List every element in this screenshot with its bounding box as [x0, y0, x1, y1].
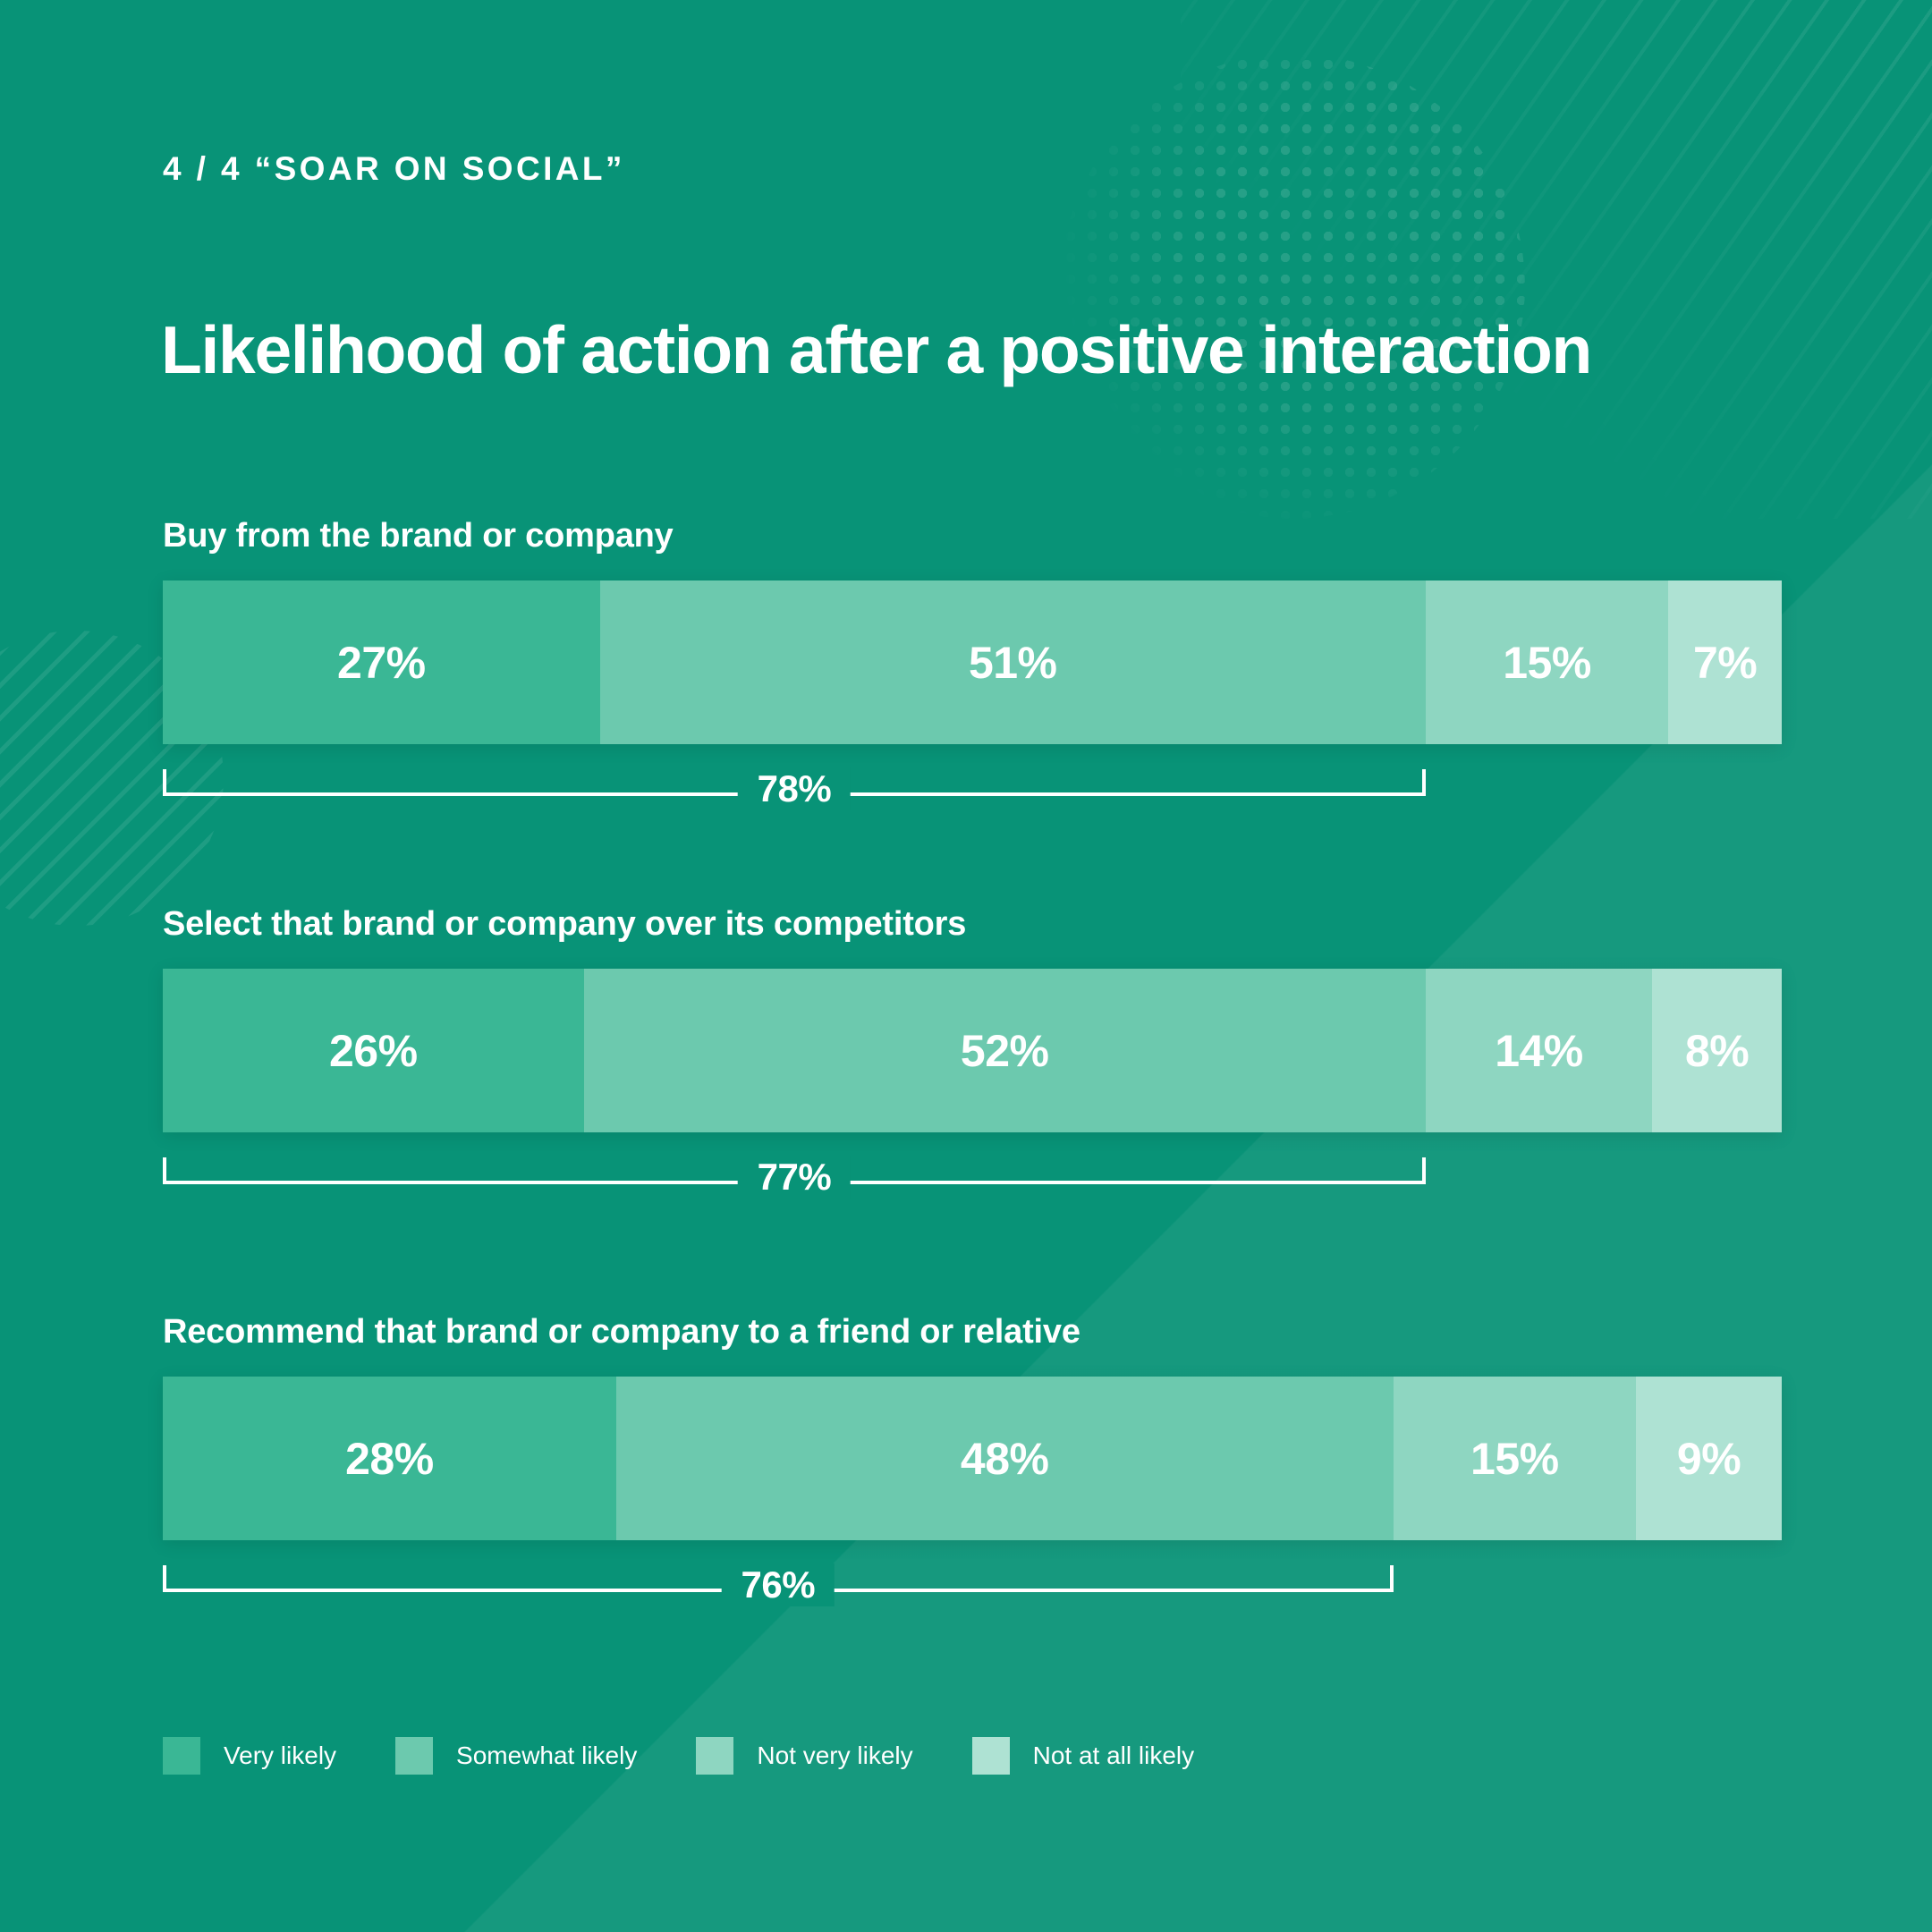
bracket-total-value: 76%	[722, 1563, 835, 1606]
chart-legend: Very likely Somewhat likely Not very lik…	[163, 1737, 1253, 1775]
bar-segment-very-likely: 27%	[163, 580, 600, 744]
stacked-bar: 26% 52% 14% 8%	[163, 969, 1782, 1132]
stacked-bar: 28% 48% 15% 9%	[163, 1377, 1782, 1540]
bar-group-recommend: Recommend that brand or company to a fri…	[163, 1313, 1782, 1623]
legend-swatch-not-at-all-likely	[972, 1737, 1010, 1775]
bracket-total-value: 78%	[738, 767, 852, 810]
total-bracket: 76%	[163, 1553, 1782, 1623]
bracket-tick-left	[163, 1157, 166, 1184]
bar-group-label: Recommend that brand or company to a fri…	[163, 1313, 1782, 1352]
bracket-total-value: 77%	[738, 1156, 852, 1199]
bracket-tick-right	[1422, 1157, 1426, 1184]
halftone-dots-decoration	[1060, 54, 1525, 519]
diagonal-stripes-decoration-top-right	[1181, 0, 1932, 519]
legend-swatch-very-likely	[163, 1737, 200, 1775]
legend-swatch-not-very-likely	[696, 1737, 733, 1775]
legend-label: Not very likely	[757, 1741, 912, 1770]
bar-segment-not-at-all-likely: 7%	[1668, 580, 1782, 744]
legend-item-not-very-likely: Not very likely	[696, 1737, 912, 1775]
legend-label: Somewhat likely	[456, 1741, 637, 1770]
bar-group-buy: Buy from the brand or company 27% 51% 15…	[163, 517, 1782, 826]
total-bracket: 77%	[163, 1145, 1782, 1215]
bar-segment-somewhat-likely: 52%	[584, 969, 1426, 1132]
eyebrow-label: 4 / 4 “SOAR ON SOCIAL”	[163, 150, 625, 188]
bar-group-label: Buy from the brand or company	[163, 517, 1782, 555]
page-title: Likelihood of action after a positive in…	[161, 311, 1591, 388]
legend-item-somewhat-likely: Somewhat likely	[395, 1737, 637, 1775]
bar-segment-somewhat-likely: 48%	[616, 1377, 1394, 1540]
bar-segment-not-very-likely: 15%	[1426, 580, 1669, 744]
stacked-bar: 27% 51% 15% 7%	[163, 580, 1782, 744]
legend-item-very-likely: Very likely	[163, 1737, 336, 1775]
bar-group-select: Select that brand or company over its co…	[163, 905, 1782, 1215]
bar-segment-very-likely: 26%	[163, 969, 584, 1132]
legend-label: Very likely	[224, 1741, 336, 1770]
bar-segment-very-likely: 28%	[163, 1377, 616, 1540]
bracket-tick-right	[1422, 769, 1426, 796]
legend-item-not-at-all-likely: Not at all likely	[972, 1737, 1195, 1775]
total-bracket: 78%	[163, 757, 1782, 826]
bracket-tick-left	[163, 1565, 166, 1592]
bar-segment-somewhat-likely: 51%	[600, 580, 1426, 744]
bar-segment-not-very-likely: 15%	[1394, 1377, 1637, 1540]
bracket-tick-left	[163, 769, 166, 796]
bar-group-label: Select that brand or company over its co…	[163, 905, 1782, 944]
legend-label: Not at all likely	[1033, 1741, 1195, 1770]
bar-segment-not-very-likely: 14%	[1426, 969, 1652, 1132]
bracket-tick-right	[1390, 1565, 1394, 1592]
legend-swatch-somewhat-likely	[395, 1737, 433, 1775]
infographic-canvas: 4 / 4 “SOAR ON SOCIAL” Likelihood of act…	[0, 0, 1932, 1932]
bar-segment-not-at-all-likely: 9%	[1636, 1377, 1782, 1540]
bar-segment-not-at-all-likely: 8%	[1652, 969, 1782, 1132]
